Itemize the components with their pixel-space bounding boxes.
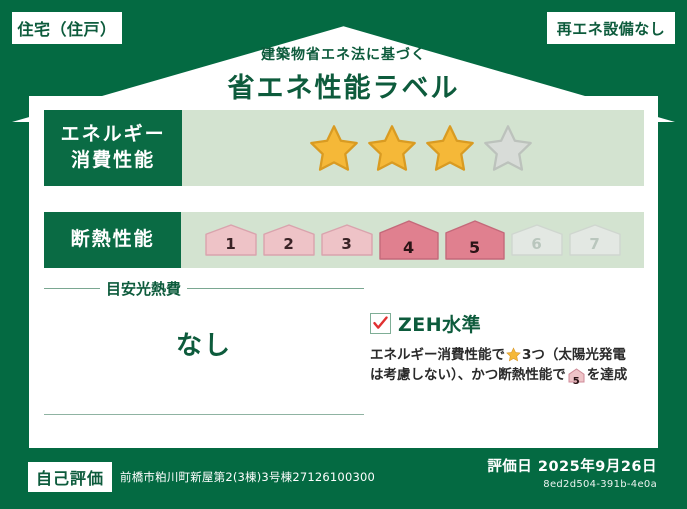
property-address: 前橋市粕川町新屋第2(3棟)3号棟27126100300 — [120, 469, 375, 485]
zeh-desc-grade-number: 5 — [568, 374, 585, 389]
evaluation-date-value: 2025年9月26日 — [538, 459, 657, 475]
energy-performance-label: エネルギー 消費性能 — [44, 110, 182, 186]
insulation-grade-3: 3 — [320, 223, 374, 257]
insulation-performance-label: 断熱性能 — [44, 212, 181, 268]
zeh-desc-grade-badge: 5 — [568, 368, 585, 389]
zeh-heading: ZEH水準 — [370, 310, 645, 337]
energy-performance-field — [182, 110, 644, 186]
building-type-tag: 住宅（住戸） — [12, 12, 122, 44]
insulation-grade-6: 6 — [510, 223, 564, 257]
utility-cost-heading-text: 目安光熱費 — [106, 278, 181, 299]
insulation-performance-row: 断熱性能 1234567 — [44, 212, 644, 268]
renewable-energy-tag: 再エネ設備なし — [547, 12, 675, 44]
zeh-desc-starcount: 3つ（太陽光発電 — [522, 347, 626, 363]
insulation-grade-number: 1 — [204, 235, 258, 253]
star-icon-empty — [482, 123, 534, 173]
zeh-desc-part1: エネルギー消費性能で — [370, 347, 505, 363]
utility-cost-value: なし — [44, 325, 364, 362]
insulation-grade-2: 2 — [262, 223, 316, 257]
title-main: 省エネ性能ラベル — [0, 66, 687, 105]
check-icon — [373, 316, 388, 331]
zeh-checkbox[interactable] — [370, 313, 391, 334]
insulation-grade-5: 5 — [444, 219, 506, 261]
evaluation-date-label: 評価日 — [487, 459, 532, 475]
utility-cost-heading: 目安光熱費 — [44, 278, 364, 299]
insulation-grade-number: 5 — [444, 238, 506, 257]
insulation-grade-number: 2 — [262, 235, 316, 253]
insulation-grade-4: 4 — [378, 219, 440, 261]
star-rating — [308, 123, 534, 173]
star-icon-filled — [366, 123, 418, 173]
star-icon-filled — [308, 123, 360, 173]
footer-left: 自己評価 前橋市粕川町新屋第2(3棟)3号棟27126100300 — [28, 462, 375, 492]
insulation-grade-number: 4 — [378, 238, 440, 257]
energy-performance-row: エネルギー 消費性能 — [44, 110, 644, 186]
energy-performance-label: 住宅（住戸） 再エネ設備なし 建築物省エネ法に基づく 省エネ性能ラベル エネルギ… — [0, 0, 687, 509]
heading-rule-left — [44, 288, 100, 289]
insulation-grade-scale: 1234567 — [181, 212, 644, 268]
self-evaluation-badge: 自己評価 — [28, 462, 112, 492]
evaluation-date: 評価日 2025年9月26日 — [487, 455, 657, 476]
energy-label-line2: 消費性能 — [71, 148, 155, 174]
star-icon-filled — [424, 123, 476, 173]
zeh-desc-part2: は考慮しない）、かつ断熱性能で — [370, 367, 566, 383]
footer-right: 評価日 2025年9月26日 8ed2d504-391b-4e0a — [487, 455, 657, 490]
zeh-title: ZEH水準 — [398, 310, 481, 337]
zeh-standard-block: ZEH水準 エネルギー消費性能で3つ（太陽光発電 は考慮しない）、かつ断熱性能で… — [370, 310, 645, 390]
star-icon — [506, 347, 521, 362]
insulation-grade-number: 3 — [320, 235, 374, 253]
evaluation-id: 8ed2d504-391b-4e0a — [487, 479, 657, 490]
heading-rule-right — [187, 288, 364, 289]
label-title-block: 建築物省エネ法に基づく 省エネ性能ラベル — [0, 44, 687, 105]
energy-label-line1: エネルギー — [61, 122, 166, 148]
insulation-grade-number: 7 — [568, 235, 622, 253]
utility-cost-block: 目安光熱費 なし — [44, 278, 364, 362]
zeh-desc-part3: を達成 — [587, 367, 628, 383]
utility-cost-bottom-rule — [44, 414, 364, 415]
insulation-grade-7: 7 — [568, 223, 622, 257]
insulation-grade-1: 1 — [204, 223, 258, 257]
zeh-description: エネルギー消費性能で3つ（太陽光発電 は考慮しない）、かつ断熱性能で5を達成 — [370, 345, 645, 390]
insulation-grade-number: 6 — [510, 235, 564, 253]
title-subtitle: 建築物省エネ法に基づく — [0, 44, 687, 64]
